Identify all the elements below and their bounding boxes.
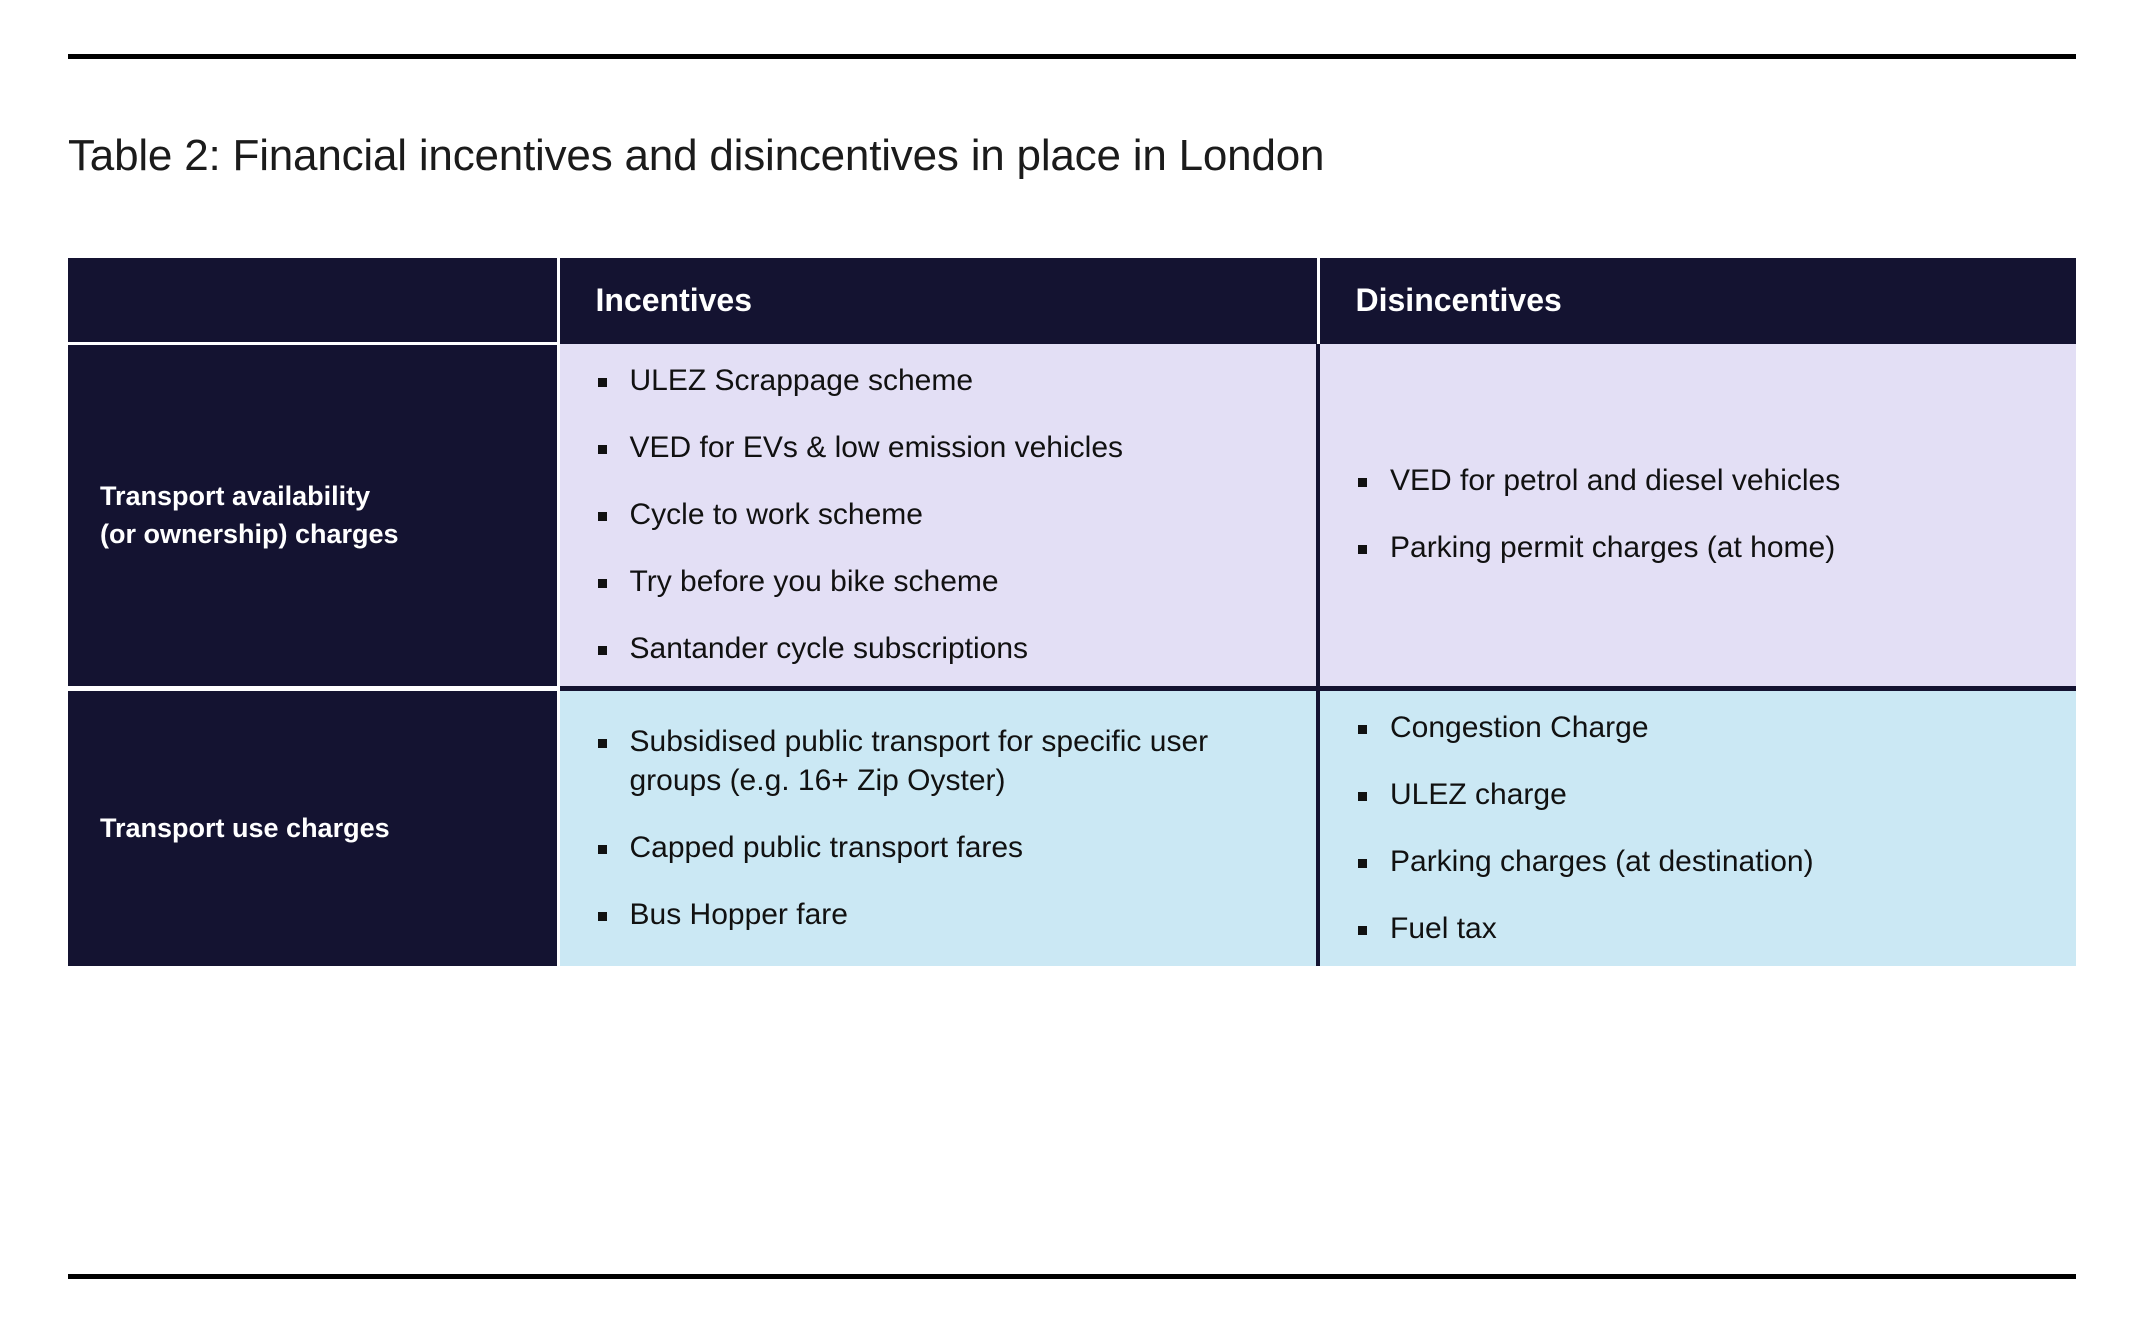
header-cell-incentives: Incentives (558, 258, 1318, 344)
cell-row2-incentives: Subsidised public transport for specific… (558, 688, 1318, 966)
header-cell-disincentives: Disincentives (1318, 258, 2076, 344)
list-item: Fuel tax (1350, 910, 2046, 948)
list-item: Capped public transport fares (590, 829, 1287, 867)
table-row: Transport availability (or ownership) ch… (68, 344, 2076, 689)
list-item: Subsidised public transport for specific… (590, 723, 1287, 799)
row-label-line-2: (or ownership) charges (100, 515, 531, 553)
list-item: Parking charges (at destination) (1350, 843, 2046, 881)
row-label-transport-use: Transport use charges (68, 688, 558, 966)
table-body: Transport availability (or ownership) ch… (68, 344, 2076, 967)
table-row: Transport use charges Subsidised public … (68, 688, 2076, 966)
row-label-transport-availability: Transport availability (or ownership) ch… (68, 344, 558, 689)
list-item: Santander cycle subscriptions (590, 630, 1287, 668)
header-cell-category (68, 258, 558, 344)
bullet-list-row2-incentives: Subsidised public transport for specific… (590, 723, 1287, 933)
bullet-list-row1-disincentives: VED for petrol and diesel vehicles Parki… (1350, 462, 2046, 567)
list-item: VED for petrol and diesel vehicles (1350, 462, 2046, 500)
list-item: Bus Hopper fare (590, 896, 1287, 934)
list-item: Cycle to work scheme (590, 496, 1287, 534)
table-header: Incentives Disincentives (68, 258, 2076, 344)
page-title: Table 2: Financial incentives and disinc… (68, 131, 1324, 181)
row-label-line-1: Transport use charges (100, 809, 531, 847)
row-label-line-1: Transport availability (100, 477, 531, 515)
bullet-list-row2-disincentives: Congestion Charge ULEZ charge Parking ch… (1350, 709, 2046, 948)
table-header-row: Incentives Disincentives (68, 258, 2076, 344)
bullet-list-row1-incentives: ULEZ Scrappage scheme VED for EVs & low … (590, 362, 1287, 668)
page-canvas: Table 2: Financial incentives and disinc… (0, 0, 2148, 1344)
list-item: Parking permit charges (at home) (1350, 529, 2046, 567)
bottom-horizontal-rule (68, 1274, 2076, 1279)
top-horizontal-rule (68, 54, 2076, 59)
list-item: VED for EVs & low emission vehicles (590, 429, 1287, 467)
list-item: Try before you bike scheme (590, 563, 1287, 601)
incentives-table: Incentives Disincentives Transport avail… (68, 258, 2076, 966)
list-item: Congestion Charge (1350, 709, 2046, 747)
cell-row2-disincentives: Congestion Charge ULEZ charge Parking ch… (1318, 688, 2076, 966)
cell-row1-disincentives: VED for petrol and diesel vehicles Parki… (1318, 344, 2076, 689)
list-item: ULEZ Scrappage scheme (590, 362, 1287, 400)
cell-row1-incentives: ULEZ Scrappage scheme VED for EVs & low … (558, 344, 1318, 689)
list-item: ULEZ charge (1350, 776, 2046, 814)
